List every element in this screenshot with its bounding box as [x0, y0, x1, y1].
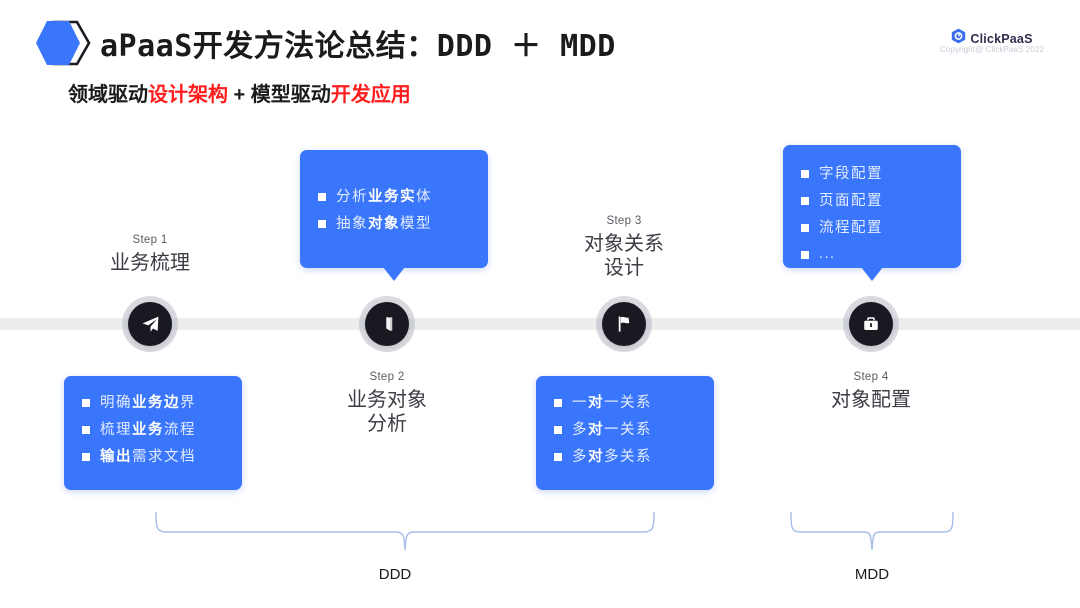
subtitle-part-2: + 模型驱动	[228, 84, 331, 106]
timeline-node-step3[interactable]	[602, 302, 646, 346]
list-item-text: 抽象对象模型	[336, 211, 432, 238]
step-title: 业务对象 分析	[317, 388, 457, 437]
callout-step2: 分析业务实体 抽象对象模型	[300, 150, 488, 268]
bullet-square-icon	[554, 453, 562, 461]
step-label-step4: Step 4 对象配置	[801, 371, 941, 412]
slide-canvas: aPaaS开发方法论总结：DDD ＋ MDD 领域驱动设计架构 + 模型驱动开发…	[0, 0, 1080, 608]
bullet-square-icon	[554, 399, 562, 407]
list-item: 分析业务实体	[318, 184, 472, 211]
list-item-text: 多对一关系	[572, 417, 652, 444]
callout-step4: 字段配置 页面配置 流程配置 ...	[783, 145, 961, 268]
step-label-step1: Step 1 业务梳理	[80, 234, 220, 275]
step-number: Step 2	[317, 371, 457, 383]
list-item: 多对一关系	[554, 417, 698, 444]
list-item-text: 多对多关系	[572, 444, 652, 471]
flag-icon	[615, 315, 633, 333]
callout-tail	[383, 267, 405, 281]
bullet-square-icon	[82, 453, 90, 461]
step-number: Step 1	[80, 234, 220, 246]
grouping-label-ddd: DDD	[335, 566, 455, 583]
step-label-step3: Step 3 对象关系 设计	[554, 215, 694, 281]
step-title: 业务梳理	[80, 251, 220, 275]
list-item: 明确业务边界	[82, 390, 226, 417]
list-item-text: 页面配置	[819, 188, 883, 215]
brand-mark: ClickPaaS Copyright@ ClickPaaS 2022	[932, 28, 1052, 54]
bullet-square-icon	[82, 426, 90, 434]
subtitle-part-3: 开发应用	[331, 84, 411, 106]
list-item: 字段配置	[801, 161, 945, 188]
bullet-square-icon	[554, 426, 562, 434]
list-item: 流程配置	[801, 215, 945, 242]
brand-name: ClickPaaS	[970, 32, 1032, 46]
page-subtitle: 领域驱动设计架构 + 模型驱动开发应用	[68, 78, 411, 107]
grouping-label-mdd: MDD	[812, 566, 932, 583]
subtitle-part-1: 设计架构	[148, 84, 228, 106]
subtitle-part-0: 领域驱动	[68, 84, 148, 106]
step-number: Step 3	[554, 215, 694, 227]
list-item-text: 一对一关系	[572, 390, 652, 417]
timeline-node-step1[interactable]	[128, 302, 172, 346]
callout-step1: 明确业务边界 梳理业务流程 输出需求文档	[64, 376, 242, 490]
timeline-node-step2[interactable]	[365, 302, 409, 346]
list-item-text: 输出需求文档	[100, 444, 196, 471]
copyright-text: Copyright@ ClickPaaS 2022	[932, 45, 1052, 54]
callout-step3: 一对一关系 多对一关系 多对多关系	[536, 376, 714, 490]
list-item-text: 字段配置	[819, 161, 883, 188]
list-item-text: 分析业务实体	[336, 184, 432, 211]
list-item-text: ...	[819, 241, 836, 268]
list-item-text: 梳理业务流程	[100, 417, 196, 444]
page-title: aPaaS开发方法论总结：DDD ＋ MDD	[100, 21, 616, 65]
bullet-square-icon	[801, 170, 809, 178]
step-title: 对象配置	[801, 388, 941, 412]
callout-tail	[861, 267, 883, 281]
list-item: 一对一关系	[554, 390, 698, 417]
list-item: 抽象对象模型	[318, 211, 472, 238]
list-item: 梳理业务流程	[82, 417, 226, 444]
hexagon-logo-icon	[33, 18, 95, 70]
step-title: 对象关系 设计	[554, 232, 694, 281]
briefcase-icon	[862, 315, 880, 333]
bullet-square-icon	[801, 197, 809, 205]
list-item-text: 流程配置	[819, 215, 883, 242]
grouping-brace-mdd	[786, 510, 966, 554]
bullet-square-icon	[801, 224, 809, 232]
bullet-square-icon	[318, 220, 326, 228]
list-item: 页面配置	[801, 188, 945, 215]
grouping-brace-ddd	[150, 510, 665, 554]
book-icon	[378, 315, 396, 333]
list-item: 多对多关系	[554, 444, 698, 471]
paper-plane-icon	[141, 315, 160, 334]
step-number: Step 4	[801, 371, 941, 383]
list-item: ...	[801, 241, 945, 268]
list-item: 输出需求文档	[82, 444, 226, 471]
bullet-square-icon	[82, 399, 90, 407]
bullet-square-icon	[801, 251, 809, 259]
timeline-node-step4[interactable]	[849, 302, 893, 346]
list-item-text: 明确业务边界	[100, 390, 196, 417]
bullet-square-icon	[318, 193, 326, 201]
step-label-step2: Step 2 业务对象 分析	[317, 371, 457, 437]
